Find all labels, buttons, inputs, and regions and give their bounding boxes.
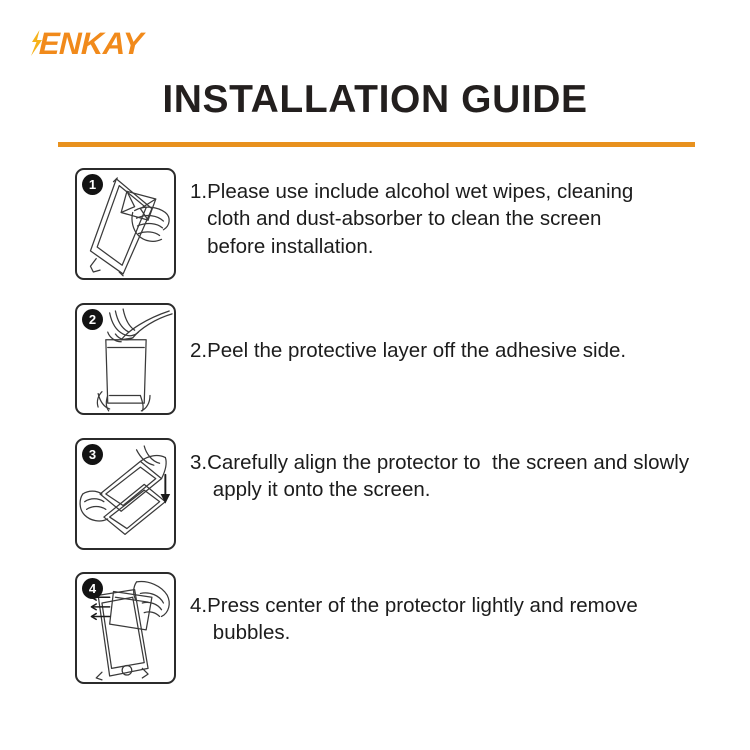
step-description: 3.Carefully align the protector to the s…: [190, 438, 689, 504]
list-item: 1 1.Please use include alcohol wet wipes…: [0, 168, 750, 280]
list-item: 4 4.Press center of the protector lightl…: [0, 572, 750, 684]
step-number-badge: 3: [82, 444, 103, 465]
step-number-badge: 4: [82, 578, 103, 599]
list-item: 2 2.Peel the protective layer off the ad…: [0, 303, 750, 415]
step-figure: 4: [75, 572, 176, 684]
step-number-badge: 2: [82, 309, 103, 330]
brand-name: ENKAY: [38, 28, 143, 59]
step-figure: 3: [75, 438, 176, 550]
brand-logo: ENKAY: [30, 26, 143, 60]
step-description: 2.Peel the protective layer off the adhe…: [190, 303, 626, 364]
step-figure: 1: [75, 168, 176, 280]
step-number-badge: 1: [82, 174, 103, 195]
title-divider: [58, 142, 695, 147]
steps-list: 1 1.Please use include alcohol wet wipes…: [0, 168, 750, 684]
step-description: 1.Please use include alcohol wet wipes, …: [190, 168, 633, 260]
step-figure: 2: [75, 303, 176, 415]
list-item: 3 3.Carefully align the protector to the…: [0, 438, 750, 550]
page-title: INSTALLATION GUIDE: [0, 78, 750, 122]
step-description: 4.Press center of the protector lightly …: [190, 572, 638, 647]
